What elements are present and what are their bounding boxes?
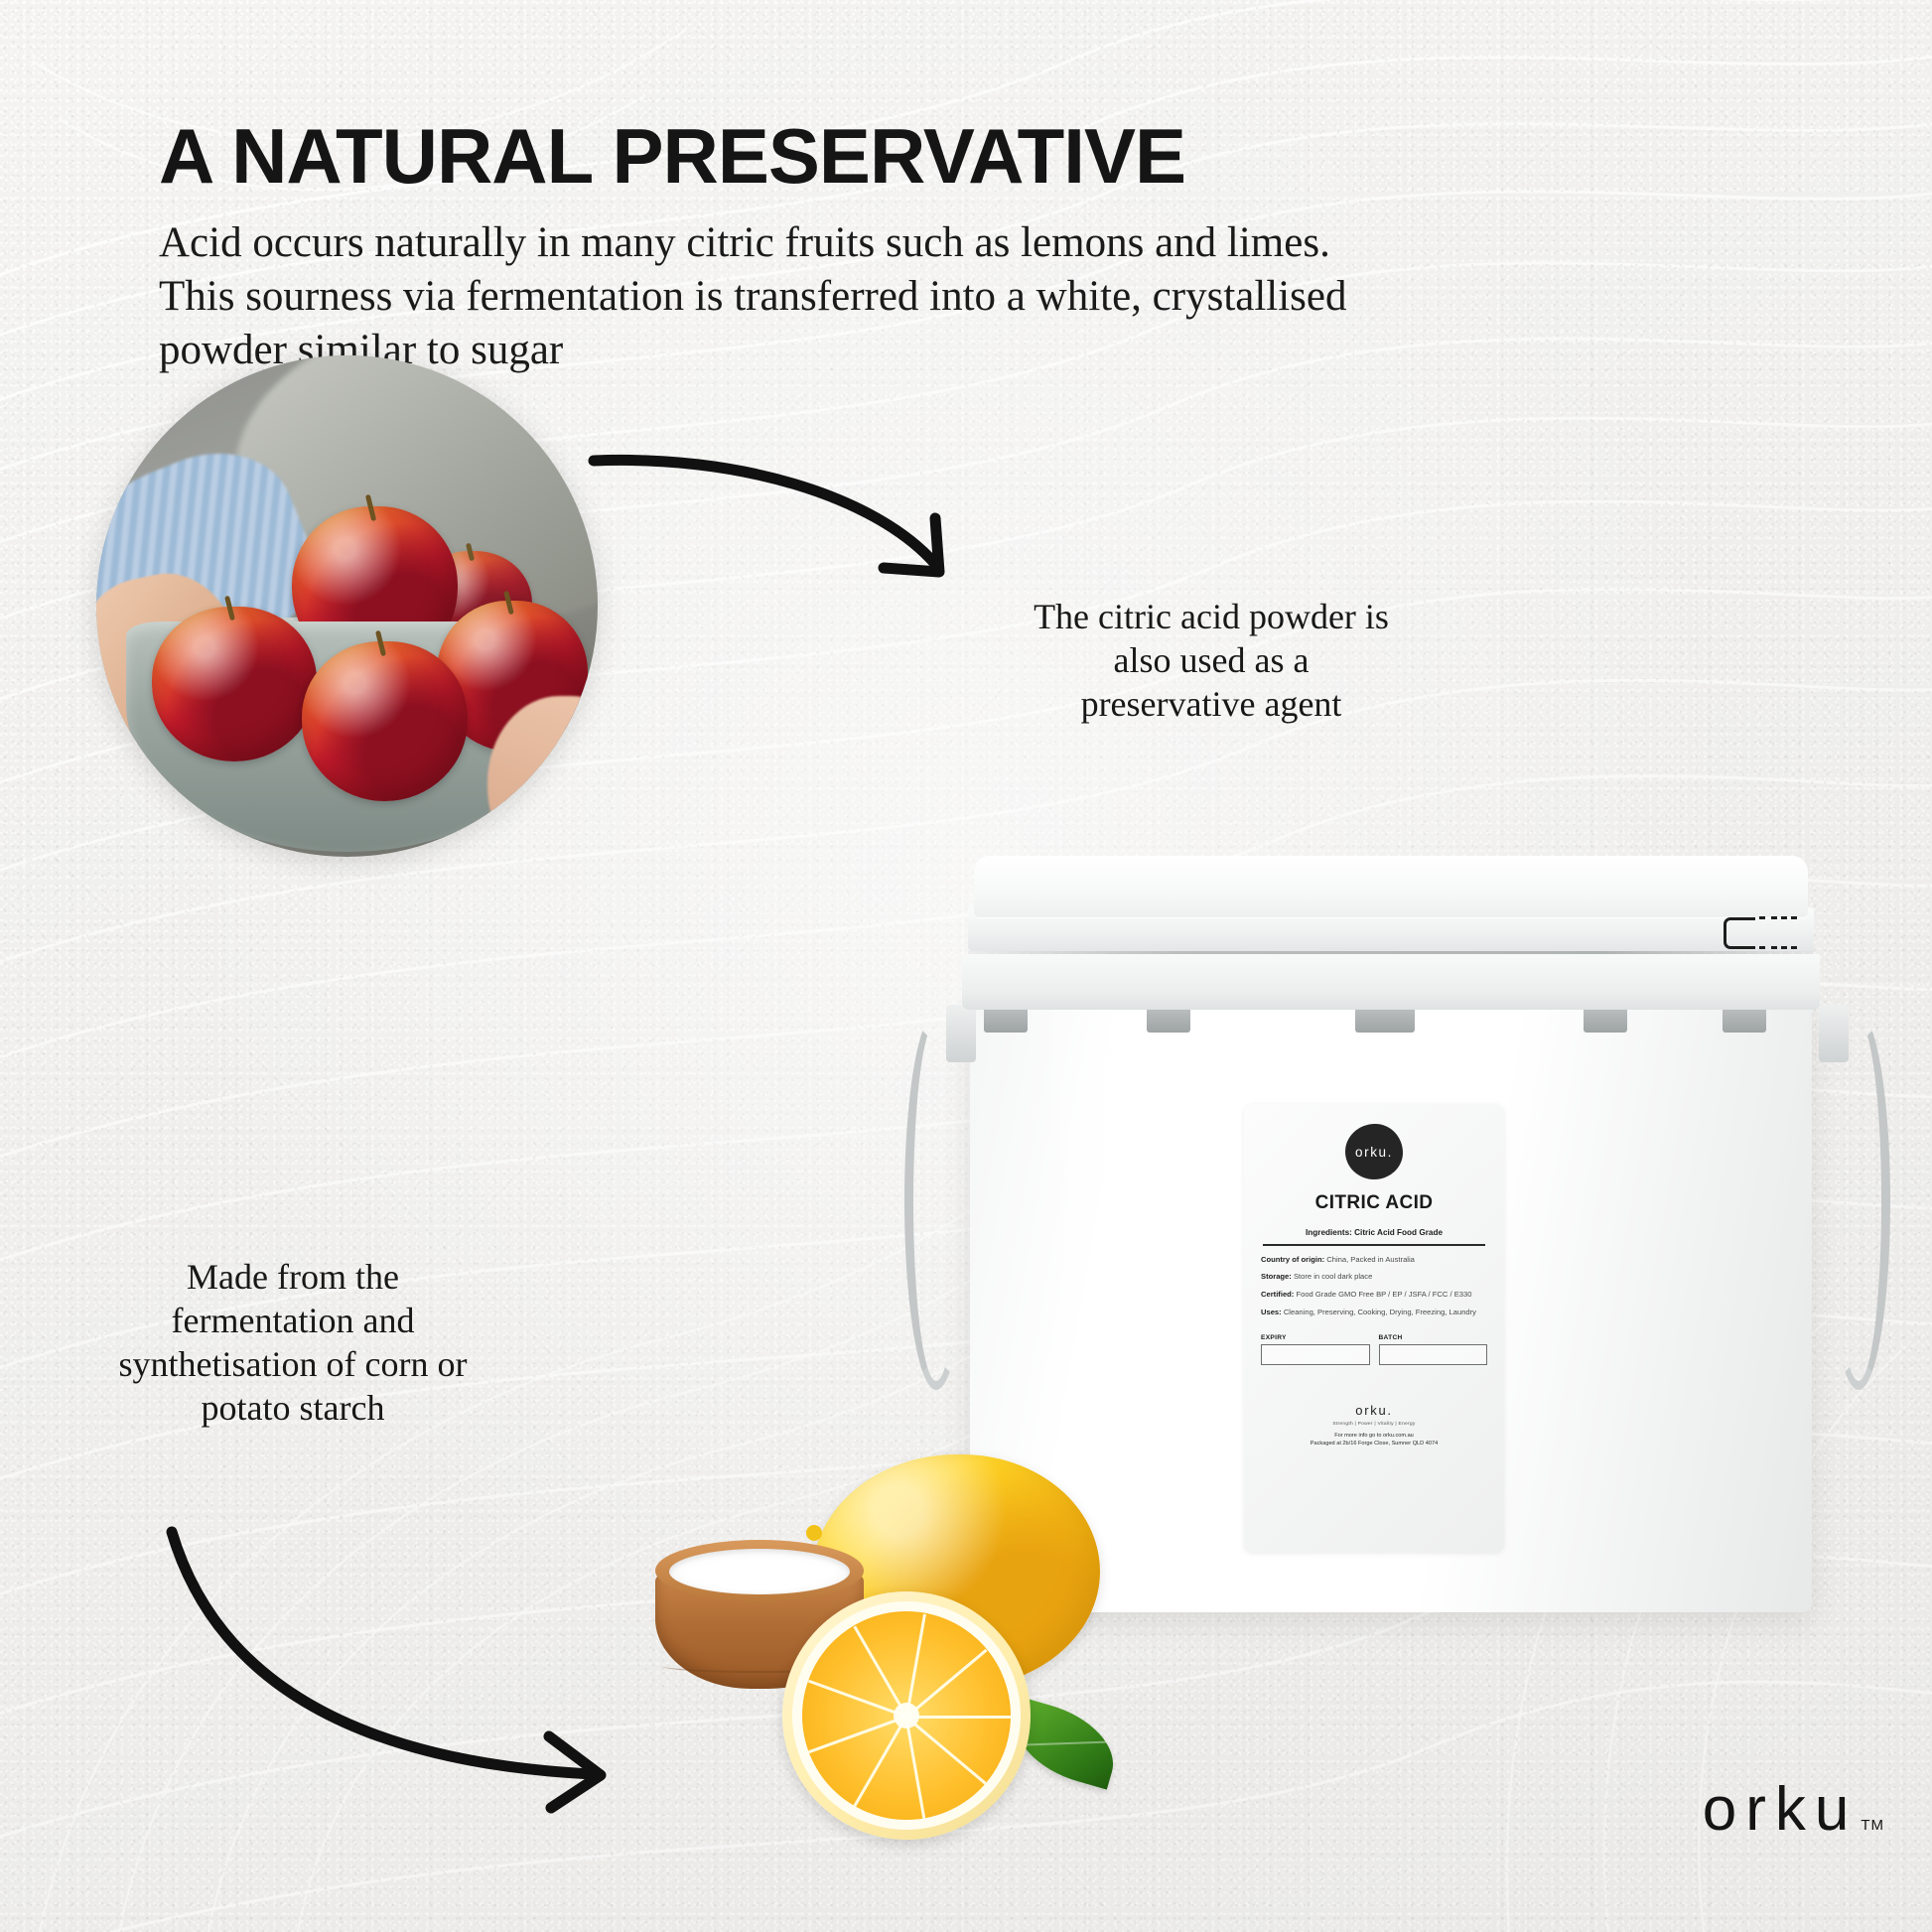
bucket-lid-tab — [1723, 1007, 1766, 1033]
label-logo-badge: orku. — [1345, 1124, 1403, 1179]
brand-wordmark: orku — [1703, 1779, 1859, 1841]
bucket-lid-tab — [1355, 1007, 1415, 1033]
label-footer-info-line1: For more info go to orku.com.au — [1261, 1432, 1487, 1440]
lemon-segment — [906, 1716, 1011, 1719]
bucket-handle-left — [904, 1013, 968, 1390]
label-row-country-value: China, Packed in Australia — [1326, 1255, 1415, 1264]
label-field-expiry-box[interactable] — [1261, 1344, 1370, 1365]
label-logo-text: orku. — [1355, 1145, 1393, 1160]
label-divider — [1263, 1244, 1485, 1246]
apples-in-bowl-photo — [96, 355, 598, 857]
label-footer-wordmark: orku. — [1261, 1403, 1487, 1418]
label-ingredients-line: Ingredients: Citric Acid Food Grade — [1261, 1228, 1487, 1237]
label-footer: orku. Strength | Power | Vitality | Ener… — [1261, 1403, 1487, 1448]
label-row-certified-label: Certified: — [1261, 1290, 1294, 1299]
label-footer-info-line2: Packaged at 2b/16 Forge Close, Sumner QL… — [1261, 1440, 1487, 1448]
bucket-handle-right — [1827, 1013, 1890, 1390]
label-field-batch-box[interactable] — [1379, 1344, 1488, 1365]
bucket-lid-tab — [984, 1007, 1028, 1033]
lemon-segment — [808, 1716, 907, 1753]
label-row-uses: Uses: Cleaning, Preserving, Cooking, Dry… — [1261, 1308, 1487, 1318]
callout-made-from-fermentation: Made from the fermentation and synthetis… — [94, 1256, 491, 1431]
label-row-storage: Storage: Store in cool dark place — [1261, 1272, 1487, 1283]
lemon-flesh — [802, 1611, 1011, 1820]
bucket-lid-seam — [968, 951, 1814, 954]
lemon-core — [894, 1703, 919, 1728]
halved-lemon — [782, 1591, 1031, 1840]
label-field-batch: BATCH — [1379, 1334, 1488, 1365]
bucket-lid-tab — [1147, 1007, 1190, 1033]
page-subtitle: Acid occurs naturally in many citric fru… — [159, 216, 1395, 378]
curved-arrow-icon — [586, 447, 1003, 625]
label-row-uses-label: Uses: — [1261, 1308, 1282, 1316]
lemon-and-powder-composition — [635, 1445, 1191, 1862]
bucket-ear-right — [1819, 1005, 1849, 1062]
tamper-evident-clip-icon — [1724, 913, 1801, 953]
lemon-segment — [853, 1717, 907, 1808]
bucket-ear-left — [946, 1005, 976, 1062]
citric-acid-powder — [669, 1549, 850, 1594]
apple — [152, 607, 318, 762]
label-row-certified-value: Food Grade GMO Free BP / EP / JSFA / FCC… — [1296, 1290, 1471, 1299]
label-row-country-label: Country of origin: — [1261, 1255, 1324, 1264]
label-row-certified: Certified: Food Grade GMO Free BP / EP /… — [1261, 1290, 1487, 1301]
brand-logo: orku TM — [1703, 1779, 1884, 1841]
page-title: A NATURAL PRESERVATIVE — [159, 117, 1440, 195]
label-ingredients-label: Ingredients: — [1306, 1228, 1352, 1237]
trademark-symbol: TM — [1861, 1817, 1884, 1834]
bucket-lid-skirt — [962, 954, 1820, 1010]
heading-block: A NATURAL PRESERVATIVE Acid occurs natur… — [159, 117, 1440, 378]
product-label: orku. CITRIC ACID Ingredients: Citric Ac… — [1244, 1104, 1504, 1553]
label-field-expiry-label: EXPIRY — [1261, 1334, 1370, 1341]
callout-preservative-agent: The citric acid powder is also used as a… — [1023, 596, 1400, 727]
label-ingredients-value: Citric Acid Food Grade — [1354, 1228, 1443, 1237]
bucket-lid-top — [974, 856, 1808, 917]
label-row-country: Country of origin: China, Packed in Aust… — [1261, 1255, 1487, 1266]
bucket-lid-tab — [1584, 1007, 1627, 1033]
label-field-batch-label: BATCH — [1379, 1334, 1488, 1341]
arrow-to-lemons — [164, 1484, 660, 1812]
arrow-to-bucket — [586, 447, 1003, 625]
curved-arrow-icon — [164, 1484, 660, 1812]
label-row-storage-value: Store in cool dark place — [1294, 1272, 1372, 1281]
label-footer-tagline: Strength | Power | Vitality | Energy — [1261, 1422, 1487, 1427]
label-field-expiry: EXPIRY — [1261, 1334, 1370, 1365]
label-fields: EXPIRY BATCH — [1261, 1334, 1487, 1365]
label-row-uses-value: Cleaning, Preserving, Cooking, Drying, F… — [1284, 1308, 1476, 1316]
label-row-storage-label: Storage: — [1261, 1272, 1292, 1281]
apple — [302, 641, 468, 802]
lemon-segment — [808, 1680, 907, 1718]
label-product-name: CITRIC ACID — [1261, 1192, 1487, 1214]
